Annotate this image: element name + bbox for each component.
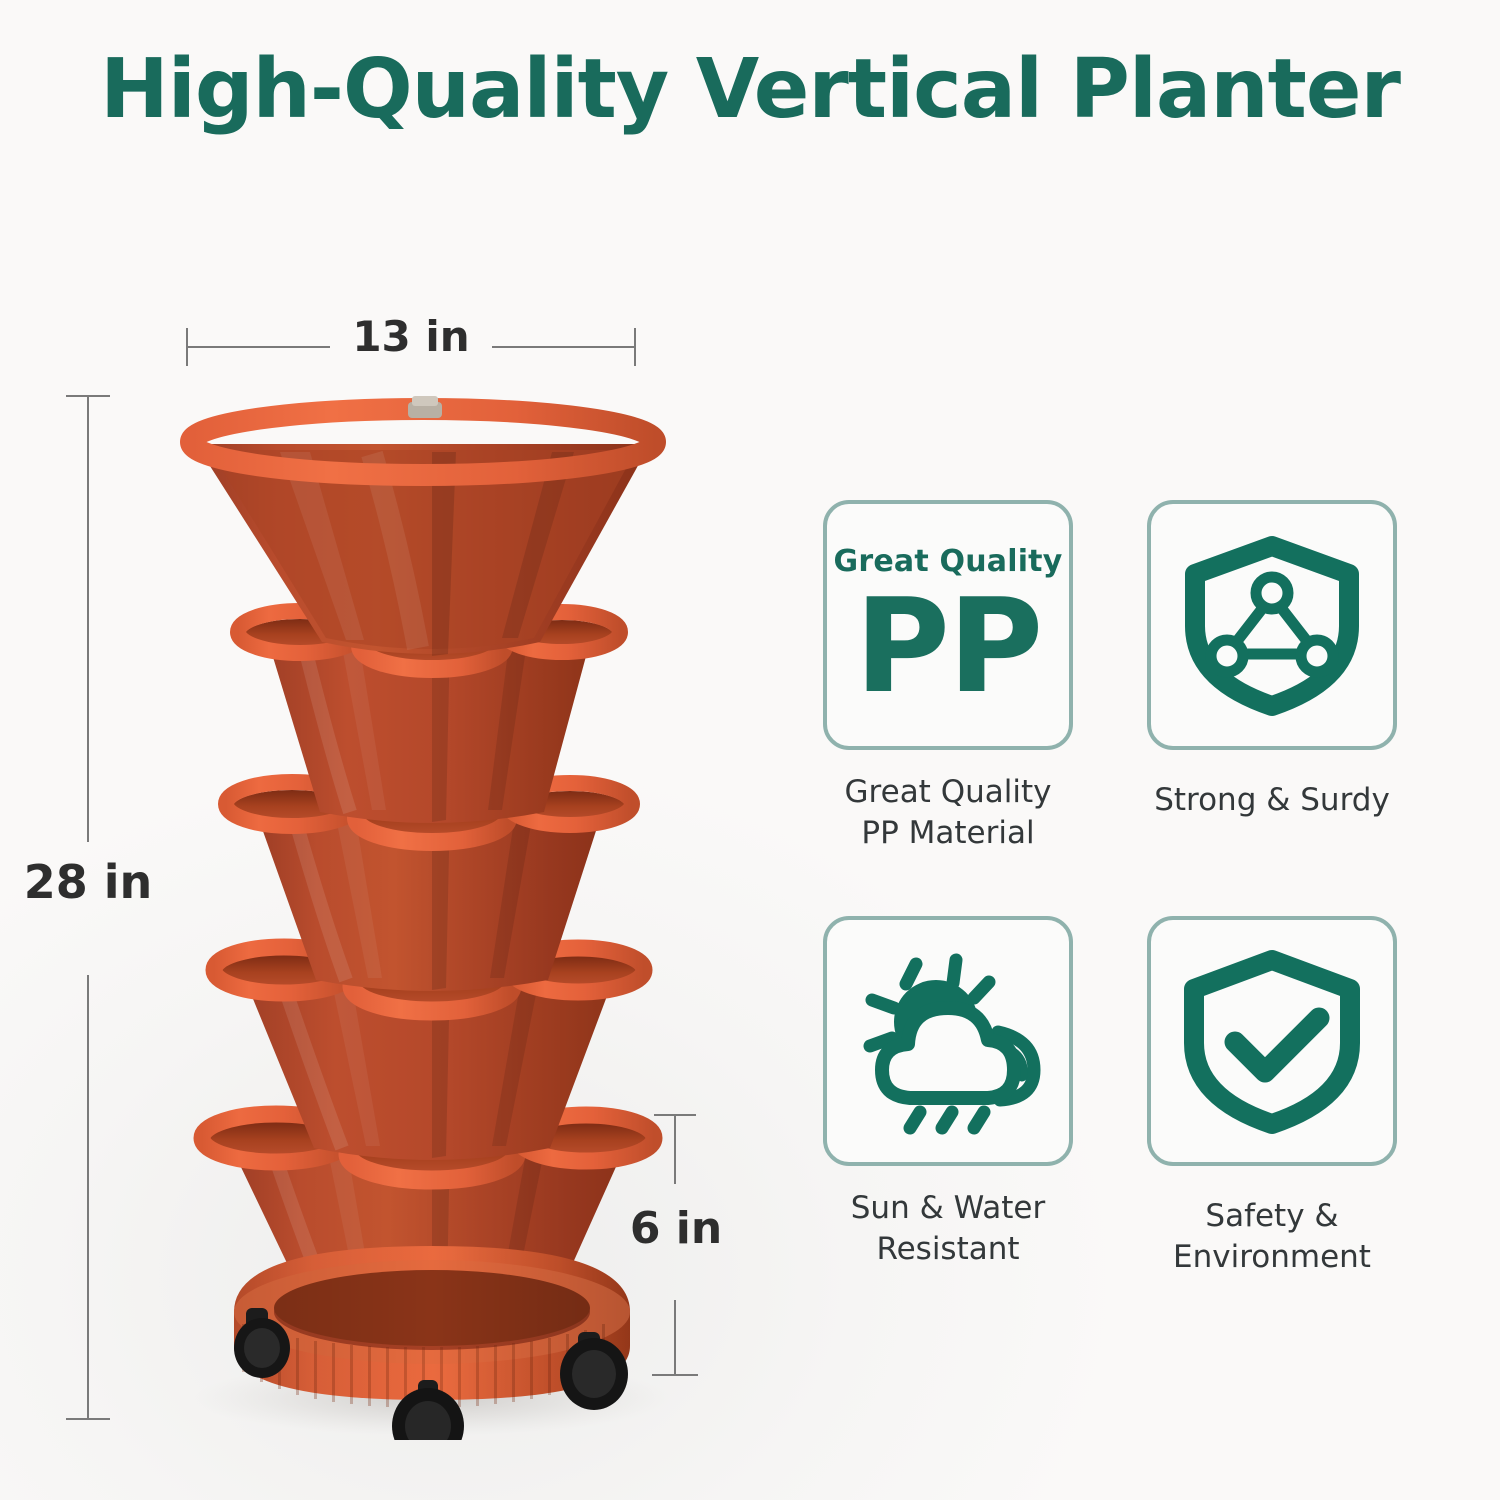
pp-material-icon: Great Quality PP	[823, 500, 1073, 750]
sun-cloud-rain-icon	[848, 946, 1048, 1136]
feature-caption-safety-environment: Safety & Environment	[1173, 1196, 1371, 1278]
product-image-vertical-planter	[150, 380, 690, 1440]
width-dimension-label: 13 in	[330, 312, 492, 361]
height-dimension-bar-top	[87, 397, 89, 842]
shield-molecule-icon-box	[1147, 500, 1397, 750]
feature-strong-sturdy: Strong & Surdy	[1124, 500, 1420, 894]
width-dimension-cap-right	[634, 328, 636, 366]
page-title: High-Quality Vertical Planter	[0, 42, 1500, 137]
feature-caption-sun-water-resistant: Sun & Water Resistant	[851, 1188, 1046, 1270]
shield-molecule-icon	[1177, 530, 1367, 720]
shield-check-icon-box	[1147, 916, 1397, 1166]
feature-caption-great-quality-pp: Great Quality PP Material	[845, 772, 1052, 854]
feature-caption-strong-sturdy: Strong & Surdy	[1154, 780, 1390, 821]
feature-great-quality-pp: Great Quality PP Great Quality PP Materi…	[800, 500, 1096, 894]
feature-safety-environment: Safety & Environment	[1124, 916, 1420, 1310]
product-infographic: High-Quality Vertical Planter 13 in 28 i…	[0, 0, 1500, 1500]
sun-cloud-rain-icon-box	[823, 916, 1073, 1166]
pp-badge-large-label: PP	[855, 585, 1042, 709]
shield-check-icon	[1177, 946, 1367, 1136]
feature-grid: Great Quality PP Great Quality PP Materi…	[800, 500, 1420, 1310]
height-dimension-bar-bottom	[87, 975, 89, 1419]
width-dimension-bar-right	[492, 346, 634, 348]
feature-sun-water-resistant: Sun & Water Resistant	[800, 916, 1096, 1310]
width-dimension-bar-left	[188, 346, 330, 348]
